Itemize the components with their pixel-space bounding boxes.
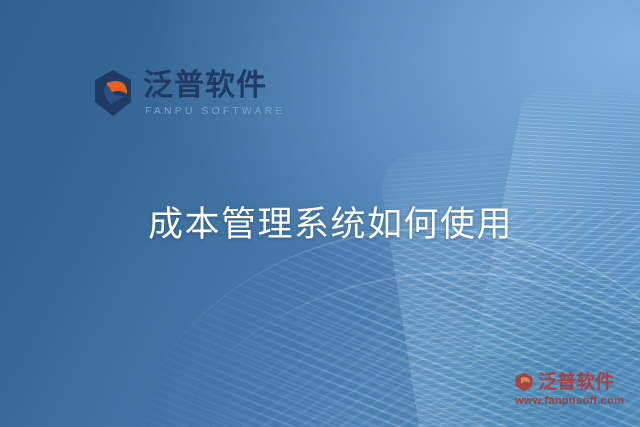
watermark-brand-row: 泛普软件	[514, 372, 636, 392]
fanpu-hexagon-logo-icon	[92, 69, 134, 117]
brand-logo-text: 泛普软件 FANPU SOFTWARE	[143, 68, 285, 117]
promo-banner: 泛普软件 FANPU SOFTWARE 成本管理系统如何使用 泛普软件 www.…	[0, 0, 640, 427]
brand-logo: 泛普软件 FANPU SOFTWARE	[92, 68, 285, 117]
page-title: 成本管理系统如何使用	[148, 196, 513, 247]
brand-name-cn: 泛普软件	[143, 70, 285, 101]
watermark-brand-name: 泛普软件	[538, 373, 614, 392]
watermark-url: www.fanpusoft.com	[514, 395, 636, 407]
brand-name-en: FANPU SOFTWARE	[143, 105, 285, 117]
watermark: 泛普软件 www.fanpusoft.com	[514, 372, 636, 407]
fanpu-watermark-logo-icon	[514, 372, 534, 392]
